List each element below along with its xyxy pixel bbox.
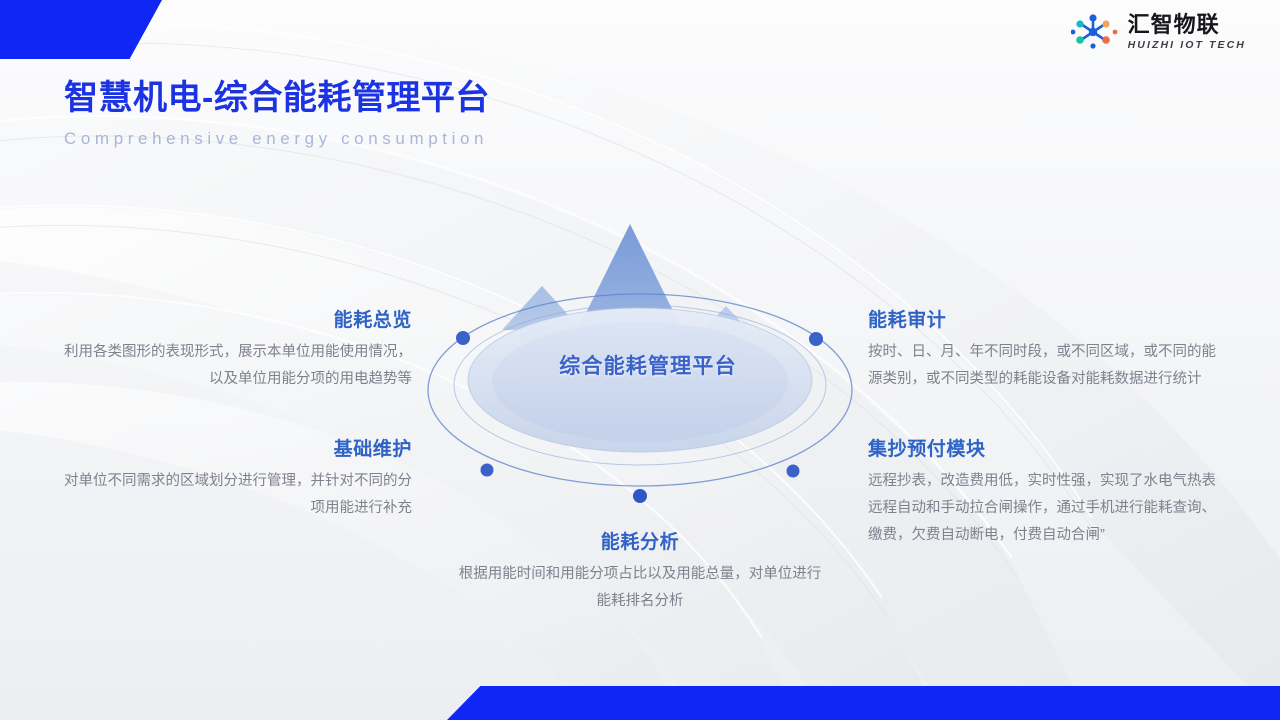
orbit-dot: [787, 465, 800, 478]
central-platform-label: 综合能耗管理平台: [418, 350, 878, 380]
feature-base-maintenance: 基础维护 对单位不同需求的区域划分进行管理，并针对不同的分项用能进行补充: [60, 434, 412, 522]
feature-base-maintenance-body: 对单位不同需求的区域划分进行管理，并针对不同的分项用能进行补充: [60, 468, 412, 522]
orbit-dot: [633, 489, 647, 503]
feature-overview: 能耗总览 利用各类图形的表现形式，展示本单位用能使用情况，以及单位用能分项的用电…: [60, 305, 412, 393]
feature-prepay: 集抄预付模块 远程抄表，改造费用低，实时性强，实现了水电气热表远程自动和手动拉合…: [868, 434, 1220, 549]
feature-analysis: 能耗分析 根据用能时间和用能分项占比以及用能总量，对单位进行能耗排名分析: [455, 527, 825, 615]
feature-overview-title: 能耗总览: [60, 305, 412, 332]
page-title-block: 智慧机电-综合能耗管理平台 Comprehensive energy consu…: [64, 70, 490, 149]
corner-accent-bottom: [447, 686, 1280, 720]
feature-overview-body: 利用各类图形的表现形式，展示本单位用能使用情况，以及单位用能分项的用电趋势等: [60, 339, 412, 393]
orbit-dot: [456, 331, 470, 345]
brand-logo: 汇智物联 HUIZHI IOT TECH: [1071, 12, 1246, 52]
brand-name-en: HUIZHI IOT TECH: [1128, 40, 1246, 51]
central-graphic: 综合能耗管理平台: [418, 210, 878, 520]
page-subtitle: Comprehensive energy consumption: [64, 129, 490, 149]
feature-prepay-body: 远程抄表，改造费用低，实时性强，实现了水电气热表远程自动和手动拉合闸操作，通过手…: [868, 468, 1220, 549]
feature-audit-body: 按时、日、月、年不同时段，或不同区域，或不同的能源类别，或不同类型的耗能设备对能…: [868, 339, 1228, 393]
brand-logo-text: 汇智物联 HUIZHI IOT TECH: [1128, 14, 1246, 51]
platform-disc-inner: [492, 322, 788, 442]
slide-canvas: 汇智物联 HUIZHI IOT TECH 智慧机电-综合能耗管理平台 Compr…: [0, 0, 1280, 720]
orbit-dot: [481, 464, 494, 477]
page-title: 智慧机电-综合能耗管理平台: [64, 70, 490, 119]
feature-analysis-body: 根据用能时间和用能分项占比以及用能总量，对单位进行能耗排名分析: [455, 561, 825, 615]
feature-audit-title: 能耗审计: [868, 305, 1228, 332]
orbit-dot: [809, 332, 823, 346]
molecule-network-icon: [1071, 12, 1119, 52]
brand-name-cn: 汇智物联: [1128, 14, 1246, 36]
feature-analysis-title: 能耗分析: [455, 527, 825, 554]
feature-base-maintenance-title: 基础维护: [60, 434, 412, 461]
feature-audit: 能耗审计 按时、日、月、年不同时段，或不同区域，或不同的能源类别，或不同类型的耗…: [868, 305, 1228, 393]
feature-prepay-title: 集抄预付模块: [868, 434, 1220, 461]
